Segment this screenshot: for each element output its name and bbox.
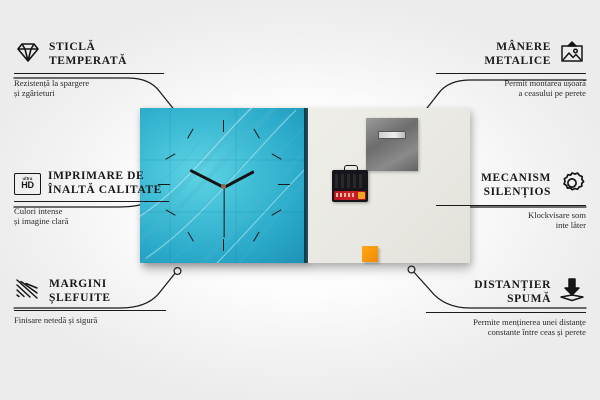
feature-title-line-2: SILENȚIOS <box>481 186 551 200</box>
feature-divider <box>426 312 586 313</box>
clock-center-pin <box>221 184 226 189</box>
movement-hook <box>344 165 358 173</box>
battery-terminal <box>358 192 365 199</box>
feature-desc-line-1: Permit montarea ușoară <box>436 78 586 88</box>
battery <box>334 191 366 200</box>
feature-desc-line-1: Culori intense <box>14 206 169 216</box>
feature-desc-line-2: și imagine clară <box>14 216 169 226</box>
feature-manere-metalice: MÂNERE METALICE Permit montarea ușoară a… <box>436 40 586 99</box>
feature-title-line-1: MÂNERE <box>484 41 551 55</box>
feature-divider <box>436 73 586 74</box>
feature-mecanism-silentios: MECANISM SILENȚIOS Klockvisare som inte … <box>436 170 586 231</box>
feature-title-line-1: STICLĂ <box>49 41 127 55</box>
clock-tick <box>223 120 224 132</box>
feature-title-line-1: MECANISM <box>481 172 551 186</box>
feature-desc-line-1: Klockvisare som <box>436 210 586 220</box>
gear-icon <box>558 170 586 201</box>
battery-label <box>336 193 356 197</box>
diamond-icon <box>14 40 42 69</box>
feature-title-line-1: DISTANȚIER <box>474 279 551 293</box>
down-arrow-foam-icon <box>558 277 586 308</box>
hanger-slot <box>378 131 406 139</box>
feature-title-line-2: ȘLEFUITE <box>49 292 111 306</box>
clock-movement <box>332 170 368 202</box>
feature-divider <box>14 310 166 311</box>
feature-title-line-2: ÎNALTĂ CALITATE <box>48 184 162 198</box>
clock-hand-second <box>223 188 224 238</box>
feature-desc-line-2: constante între ceas și perete <box>426 327 586 337</box>
clock-tick <box>223 239 224 251</box>
feature-title-line-2: SPUMĂ <box>474 293 551 307</box>
ultra-hd-icon-main: HD <box>21 181 33 190</box>
feature-title-line-1: IMPRIMARE DE <box>48 170 162 184</box>
infographic-canvas: STICLĂ TEMPERATĂ Rezistență la spargere … <box>0 0 600 400</box>
polished-edge-icon <box>14 277 42 306</box>
feature-margini-slefuite: MARGINI ȘLEFUITE Finisare netedă și sigu… <box>14 277 166 325</box>
feature-divider <box>14 73 164 74</box>
movement-body <box>335 174 365 188</box>
feature-title-line-2: METALICE <box>484 55 551 69</box>
feature-desc-line-2: inte låter <box>436 220 586 230</box>
feature-desc-line-2: a ceasului pe perete <box>436 88 586 98</box>
feature-desc-line-1: Finisare netedă și sigură <box>14 315 166 325</box>
feature-desc-line-1: Permite menținerea unei distanțe <box>426 317 586 327</box>
hanger-plate <box>366 118 418 171</box>
feature-divider <box>436 205 586 206</box>
feature-imprimare-hd: ultra HD IMPRIMARE DE ÎNALTĂ CALITATE Cu… <box>14 170 169 227</box>
feature-title-line-1: MARGINI <box>49 278 111 292</box>
clock-tick <box>278 184 290 185</box>
ultra-hd-icon: ultra HD <box>14 173 41 195</box>
feature-title-line-2: TEMPERATĂ <box>49 55 127 69</box>
product-image <box>140 108 470 268</box>
feature-desc-line-2: și zgârieturi <box>14 88 164 98</box>
feature-divider <box>14 201 169 202</box>
hanging-frame-icon <box>558 40 586 69</box>
feature-sticla-temperata: STICLĂ TEMPERATĂ Rezistență la spargere … <box>14 40 164 99</box>
feature-distantier-spuma: DISTANȚIER SPUMĂ Permite menținerea unei… <box>426 277 586 338</box>
foam-spacer <box>362 246 378 262</box>
feature-desc-line-1: Rezistență la spargere <box>14 78 164 88</box>
